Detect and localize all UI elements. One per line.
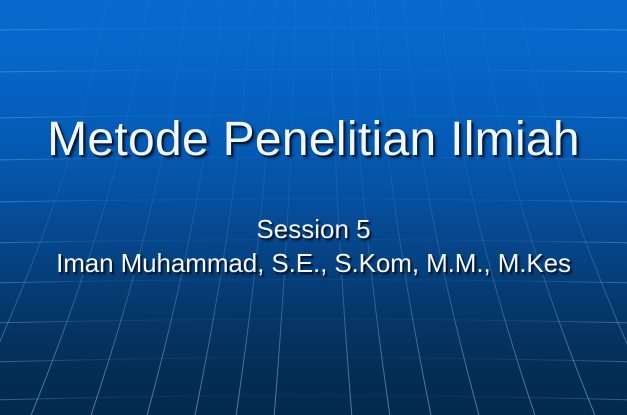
subtitle-author-line: Iman Muhammad, S.E., S.Kom, M.M., M.Kes xyxy=(0,246,627,280)
presentation-slide: Metode Penelitian Ilmiah Session 5 Iman … xyxy=(0,0,627,415)
slide-title: Metode Penelitian Ilmiah xyxy=(0,115,627,165)
subtitle-session-line: Session 5 xyxy=(0,212,627,246)
slide-subtitle-block: Session 5 Iman Muhammad, S.E., S.Kom, M.… xyxy=(0,212,627,281)
slide-text-layer: Metode Penelitian Ilmiah Session 5 Iman … xyxy=(0,0,627,415)
